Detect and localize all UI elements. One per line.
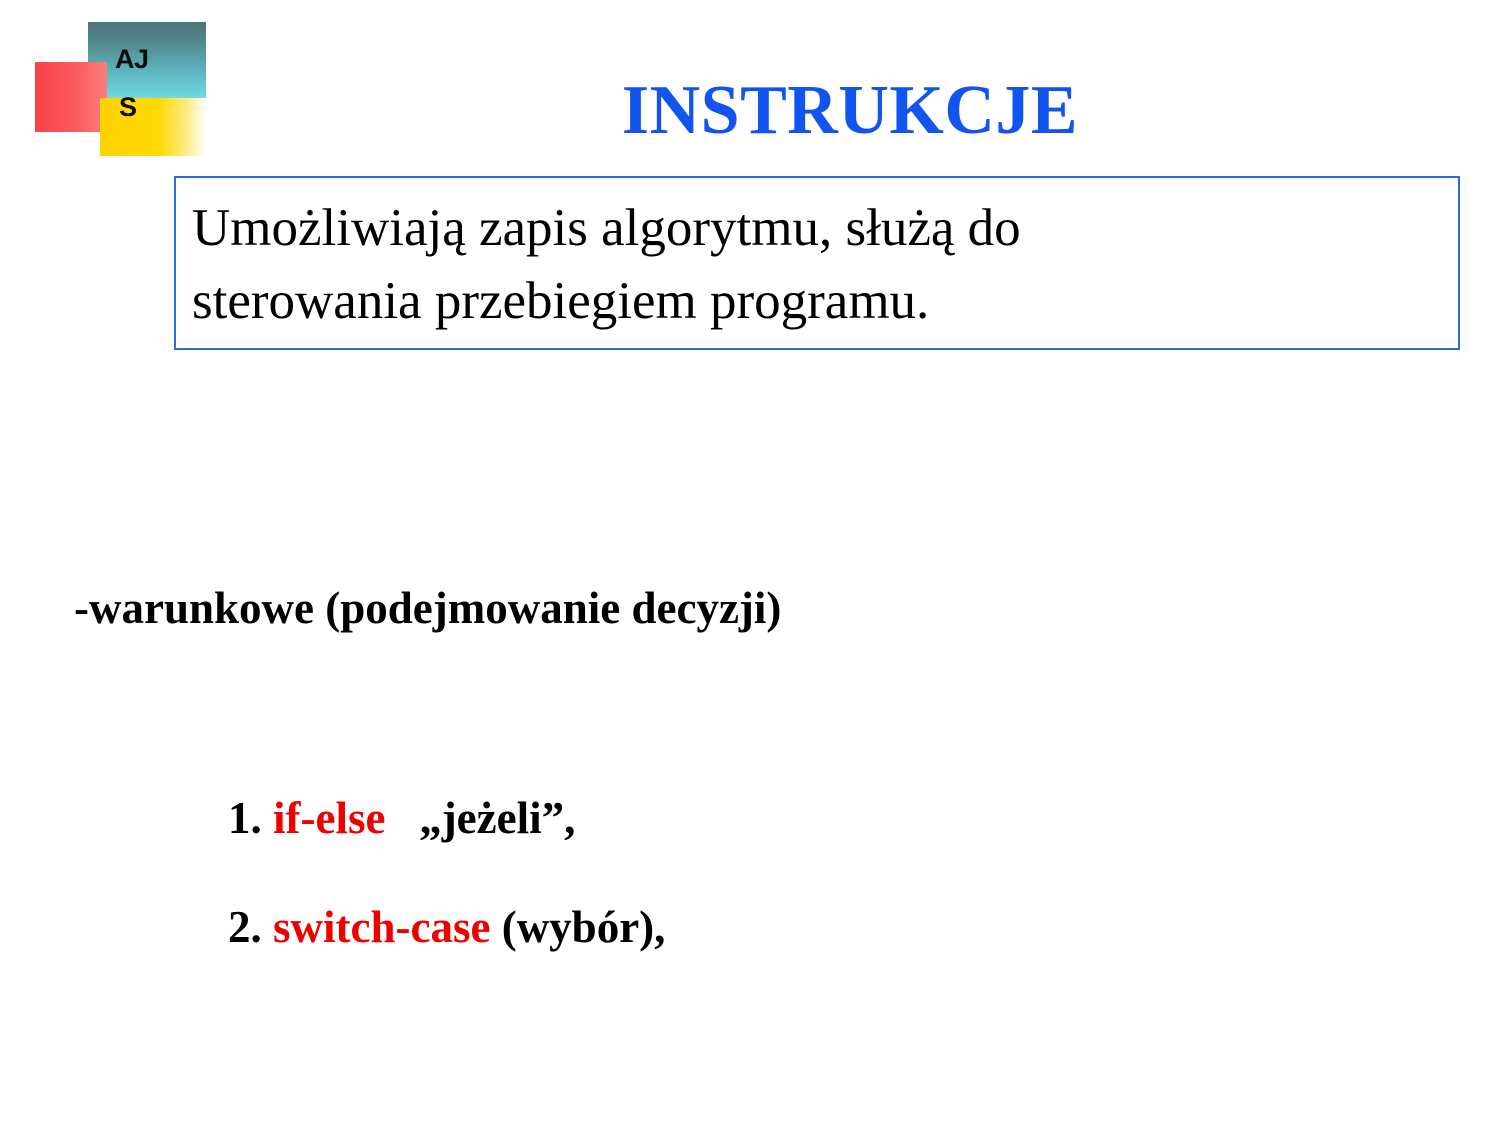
- list-item: 1. if-else „jeżeli”,: [228, 796, 665, 841]
- list-item-keyword: if-else: [273, 793, 385, 843]
- description-line-2: sterowania przebiegiem programu.: [192, 265, 1446, 338]
- description-box: Umożliwiają zapis algorytmu, służą do st…: [174, 176, 1460, 350]
- slide-title: INSTRUKCJE: [0, 76, 1500, 146]
- bullet-warunkowe: -warunkowe (podejmowanie decyzji): [74, 586, 781, 631]
- list-item: 2. switch-case (wybór),: [228, 905, 665, 950]
- instruction-list: 1. if-else „jeżeli”, 2. switch-case (wyb…: [228, 796, 665, 950]
- list-item-rest: „jeżeli”,: [419, 793, 575, 843]
- list-item-space: [262, 902, 273, 952]
- list-item-gap: [385, 793, 419, 843]
- list-item-gap: [490, 902, 501, 952]
- list-item-number: 1.: [228, 793, 262, 843]
- list-item-number: 2.: [228, 902, 262, 952]
- list-item-space: [262, 793, 273, 843]
- logo-text-aj: AJ: [115, 46, 149, 73]
- list-item-rest: (wybór),: [502, 902, 666, 952]
- description-line-1: Umożliwiają zapis algorytmu, służą do: [192, 192, 1446, 265]
- list-item-keyword: switch-case: [273, 902, 490, 952]
